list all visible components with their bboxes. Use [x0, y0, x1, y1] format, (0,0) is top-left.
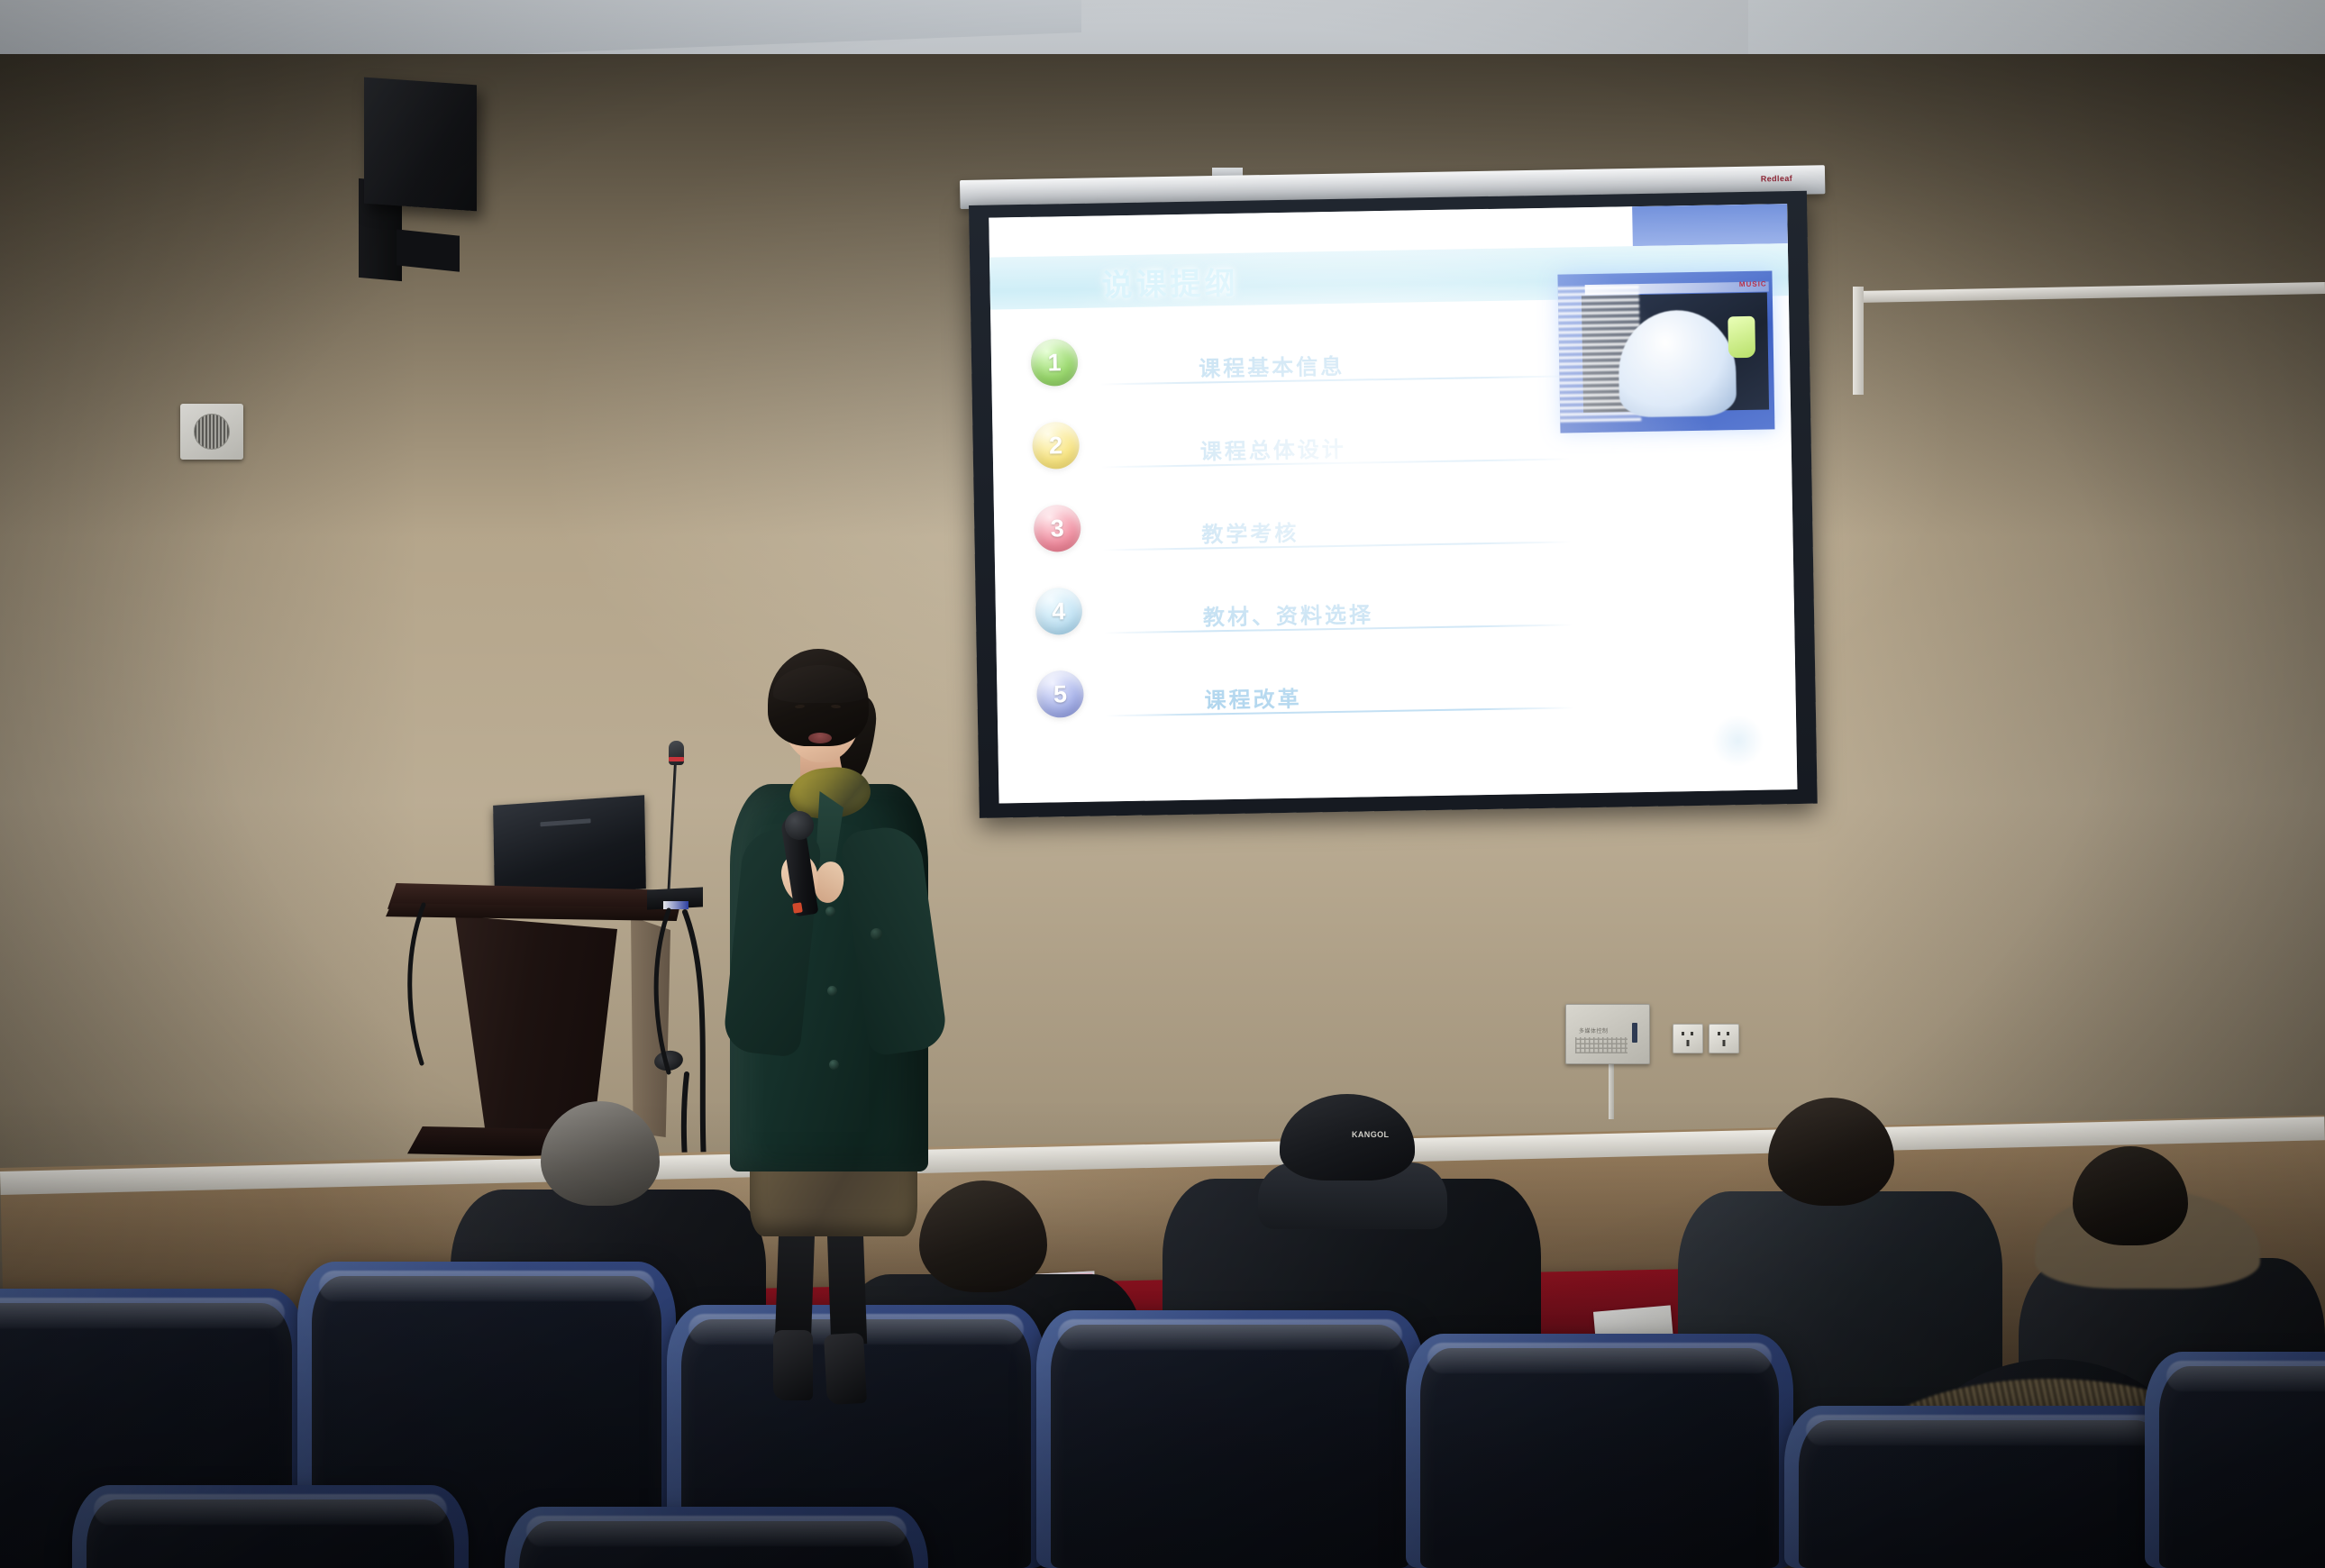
slide-item-label: 教材、资料选择	[1203, 597, 1374, 631]
presenter-coat-pocket-button	[871, 928, 882, 940]
microphone-indicator-band	[669, 757, 684, 761]
projection-screen: 说课提纲 1 课程基本信息 2 课程总体设计 3	[969, 191, 1818, 818]
slide-photo-brand: MUSIC	[1739, 280, 1767, 289]
lecture-hall-photo: 多媒体控制 Redleaf 说课提纲 1 课程基本信息	[0, 0, 2325, 1568]
vent-grille	[194, 414, 230, 450]
wall-panel-stem	[1609, 1060, 1614, 1119]
presenter-leg	[827, 1228, 867, 1345]
power-outlet[interactable]	[1673, 1024, 1703, 1053]
presenter-coat-button	[825, 907, 835, 916]
cap-brand-logo: KANGOL	[1352, 1130, 1389, 1139]
slide-item-badge: 1	[1031, 339, 1079, 387]
lectern-side-panel	[631, 912, 670, 1137]
power-outlet[interactable]	[1709, 1024, 1739, 1053]
seat-headrest-gloss	[94, 1494, 447, 1525]
slide-item-label: 课程改革	[1204, 681, 1302, 715]
seat-cushion	[2159, 1366, 2325, 1568]
seat-headrest-gloss	[1427, 1343, 1772, 1373]
wall-speaker-icon	[364, 77, 477, 212]
slide-item-badge: 3	[1034, 505, 1081, 552]
seat-cushion	[1420, 1348, 1779, 1568]
microphone-power-led	[792, 902, 803, 913]
auditorium-seat[interactable]	[2145, 1352, 2325, 1568]
auditorium-seat[interactable]	[72, 1485, 469, 1568]
presenter-leg	[775, 1228, 815, 1345]
laptop-brand-mark	[540, 818, 590, 826]
seat-headrest-gloss	[0, 1298, 285, 1328]
slide-outline-item: 5 课程改革	[1027, 656, 1606, 749]
slide-outline-item: 1 课程基本信息	[1022, 324, 1600, 417]
screen-brand-logo: Redleaf	[1761, 174, 1792, 184]
slide-item-badge: 4	[1035, 588, 1082, 635]
slide-title: 说课提纲	[1101, 259, 1239, 305]
seat-cushion	[1051, 1325, 1409, 1568]
auditorium-seat[interactable]	[1406, 1334, 1793, 1568]
auditorium-seat[interactable]	[1036, 1310, 1424, 1568]
slide-item-badge: 2	[1032, 422, 1080, 469]
air-vent-icon	[180, 404, 243, 460]
wall-panel-label: 多媒体控制	[1579, 1026, 1609, 1035]
auditorium-seat[interactable]	[1784, 1406, 2181, 1568]
seat-headrest-gloss	[526, 1516, 907, 1546]
seat-headrest-gloss	[1806, 1415, 2159, 1445]
laptop[interactable]	[493, 795, 646, 899]
slide-item-badge: 5	[1036, 670, 1084, 718]
wall-panel-slot	[1632, 1023, 1637, 1043]
microphone-label-tag	[663, 901, 688, 909]
slide-corner-accent	[1632, 204, 1788, 246]
slide-outline-item: 4 教材、资料选择	[1026, 573, 1604, 666]
slide-item-label: 课程基本信息	[1199, 349, 1345, 383]
wall-trim-molding-vertical	[1853, 287, 1864, 395]
wall-control-panel[interactable]: 多媒体控制	[1565, 1004, 1650, 1064]
slide-outline-item: 2 课程总体设计	[1023, 407, 1601, 500]
slide-photo-accent	[1728, 316, 1755, 359]
seat-headrest-gloss	[2166, 1361, 2325, 1391]
slide-photo: MUSIC	[1557, 270, 1774, 433]
seat-headrest-gloss	[319, 1271, 654, 1301]
speaker-arm	[397, 229, 460, 271]
projection-screen-surface: 说课提纲 1 课程基本信息 2 课程总体设计 3	[989, 204, 1797, 803]
presenter	[694, 649, 964, 1280]
seat-headrest-gloss	[1058, 1319, 1402, 1350]
slide-item-rule	[1106, 707, 1574, 716]
slide-outline-item: 3 教学考核	[1025, 490, 1603, 583]
wall-panel-keypad[interactable]	[1575, 1037, 1627, 1053]
presenter-mouth	[808, 733, 832, 743]
presenter-boot	[773, 1330, 813, 1400]
presenter-coat-button	[829, 1060, 839, 1070]
presenter-coat-button	[827, 986, 837, 996]
slide-item-label: 教学考核	[1201, 515, 1299, 549]
presentation-slide: 说课提纲 1 课程基本信息 2 课程总体设计 3	[989, 204, 1797, 803]
slide-outline-list: 1 课程基本信息 2 课程总体设计 3 教学考核	[1022, 324, 1606, 749]
auditorium-seat[interactable]	[505, 1507, 928, 1568]
slide-watermark	[1711, 715, 1764, 768]
slide-item-label: 课程总体设计	[1199, 432, 1346, 466]
presenter-boot	[824, 1333, 867, 1405]
slide-item-rule	[1103, 541, 1572, 551]
